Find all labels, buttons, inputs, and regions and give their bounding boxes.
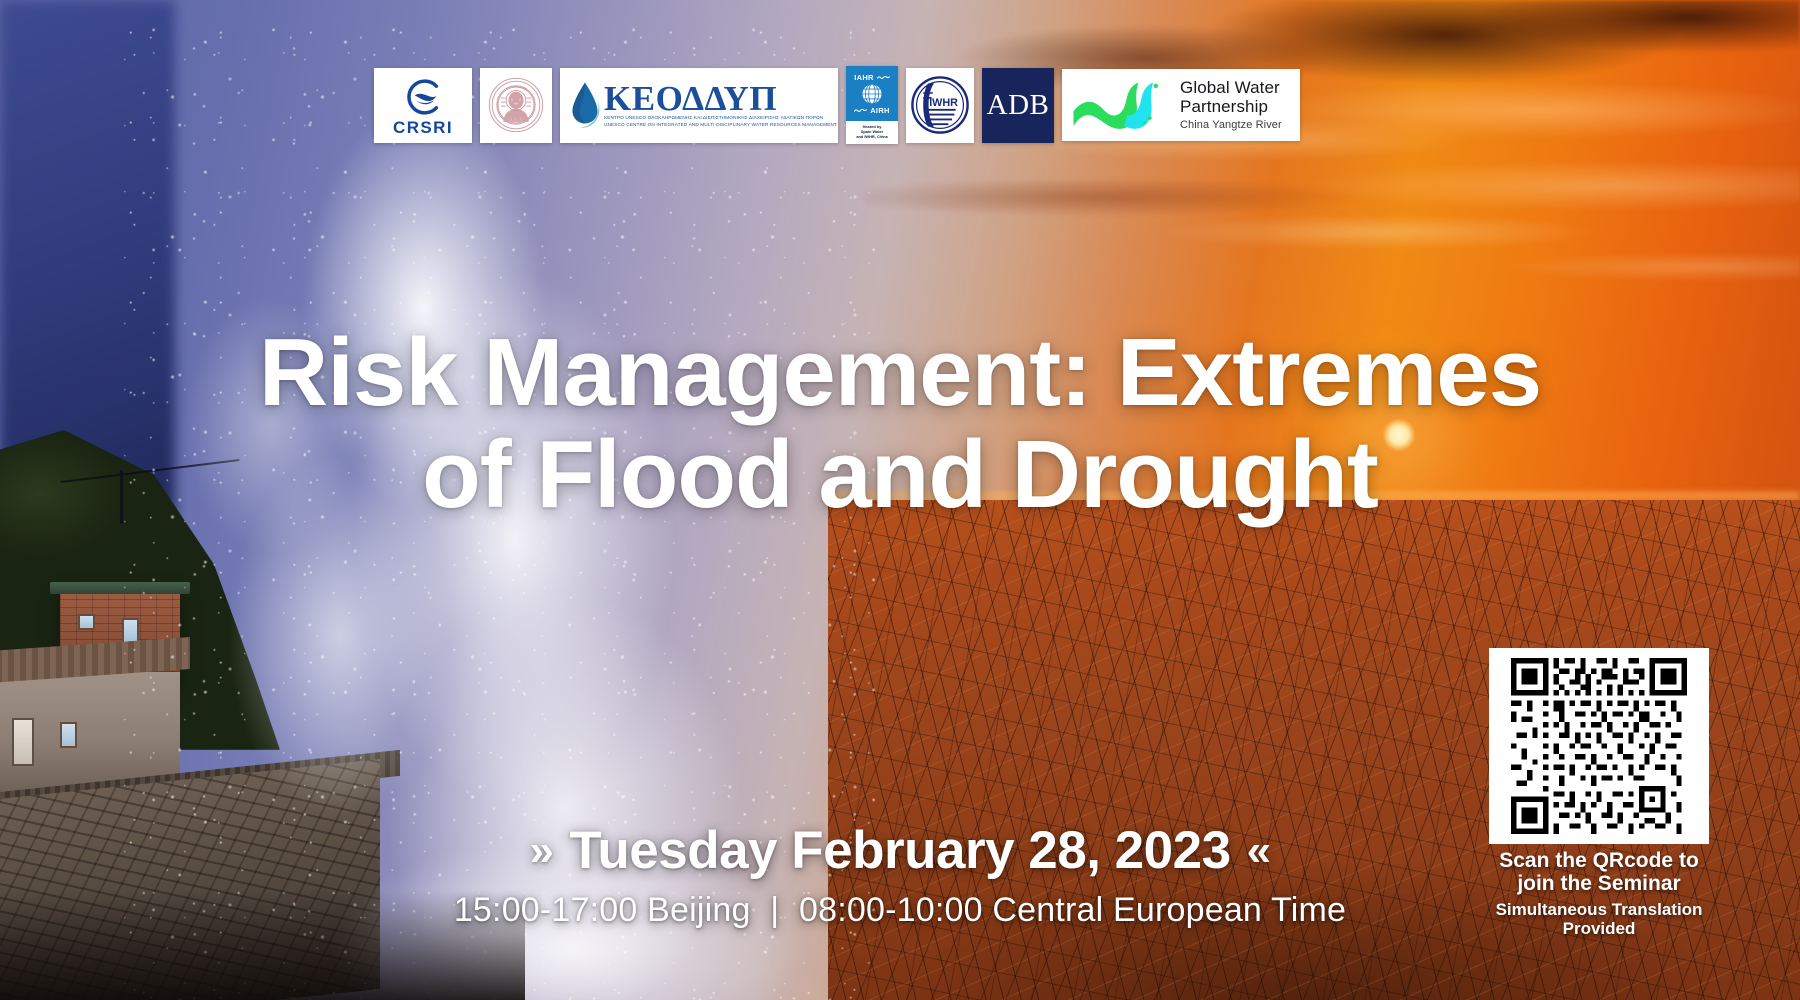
window xyxy=(78,614,95,630)
logo-keodyp-text: ΚΕΟΔΔΥΠ ΚΕΝΤΡΟ UNESCO ΟΛΟΚΛΗΡΩΜΕΝΗΣ ΚΑΙ … xyxy=(604,82,832,129)
qr-note-line2: Provided xyxy=(1563,919,1636,938)
logo-keodyp-wordmark: ΚΕΟΔΔΥΠ xyxy=(604,82,777,115)
logo-gwp-line3: China Yangtze River xyxy=(1180,119,1282,131)
poster-title: Risk Management: Extremes of Flood and D… xyxy=(0,322,1800,526)
water-drop-icon xyxy=(568,81,602,131)
qr-note: Simultaneous Translation Provided xyxy=(1489,900,1709,938)
chevron-right-icon: « xyxy=(1247,826,1271,876)
window xyxy=(60,722,77,748)
logo-adb[interactable]: ADB xyxy=(982,68,1054,143)
logo-keodyp-subtitle-el: ΚΕΝΤΡΟ UNESCO ΟΛΟΚΛΗΡΩΜΕΝΗΣ ΚΑΙ ΔΙΕΠΙΣΤΗ… xyxy=(604,115,823,122)
seminar-poster: CRSRI xyxy=(0,0,1800,1000)
crsri-wave-circle-icon xyxy=(403,77,443,117)
wave-icon xyxy=(854,107,867,114)
event-time-cet: 08:00-10:00 Central European Time xyxy=(799,891,1346,929)
title-line-1: Risk Management: Extremes xyxy=(40,322,1760,424)
logo-crsri-wordmark: CRSRI xyxy=(393,119,453,136)
logo-adb-wordmark: ADB xyxy=(987,89,1050,122)
logo-keodyp[interactable]: ΚΕΟΔΔΥΠ ΚΕΝΤΡΟ UNESCO ΟΛΟΚΛΗΡΩΜΕΝΗΣ ΚΑΙ … xyxy=(560,68,838,143)
logo-iahr[interactable]: IAHR xyxy=(846,66,898,144)
qr-caption-line1: Scan the QRcode to xyxy=(1499,849,1699,872)
qr-code-card[interactable] xyxy=(1489,648,1709,844)
qr-registration-block[interactable]: Scan the QRcode to join the Seminar Simu… xyxy=(1489,648,1709,938)
logo-iahr-blue-panel: IAHR xyxy=(846,66,898,121)
logo-iahr-top-row: IAHR xyxy=(854,73,890,82)
qr-code-icon[interactable] xyxy=(1511,658,1687,834)
chevron-left-icon: » xyxy=(529,826,553,876)
iwhr-dam-circle-icon: IWHR xyxy=(910,75,970,135)
logo-iahr-bottom-text: AIRH xyxy=(870,106,890,115)
title-line-2: of Flood and Drought xyxy=(40,424,1760,526)
qr-caption: Scan the QRcode to join the Seminar xyxy=(1489,850,1709,895)
qr-note-line1: Simultaneous Translation xyxy=(1496,900,1703,919)
logo-gwp[interactable]: Global Water Partnership China Yangtze R… xyxy=(1062,69,1300,141)
logo-gwp-line2: Partnership xyxy=(1180,98,1282,117)
event-time-beijing: 15:00-17:00 Beijing xyxy=(454,891,751,929)
sponsor-logo-bar: CRSRI xyxy=(374,66,1300,144)
event-date-text: Tuesday February 28, 2023 xyxy=(569,820,1230,881)
logo-iahr-hosted-line3: and IWHR, China xyxy=(856,135,887,140)
logo-university-seal[interactable] xyxy=(480,68,552,143)
logo-iwhr[interactable]: IWHR xyxy=(906,68,974,143)
logo-iahr-top-text: IAHR xyxy=(854,73,874,82)
logo-iahr-bottom-row: AIRH xyxy=(854,106,890,115)
logo-crsri[interactable]: CRSRI xyxy=(374,68,472,143)
logo-gwp-line1: Global Water xyxy=(1180,79,1282,98)
logo-keodyp-subtitle-en: UNESCO CENTRE ON INTEGRATED AND MULTI-DI… xyxy=(604,122,837,129)
wave-icon xyxy=(877,74,890,81)
event-time-separator: | xyxy=(760,891,789,929)
university-seal-icon xyxy=(487,76,545,134)
qr-caption-line2: join the Seminar xyxy=(1517,872,1680,895)
logo-gwp-text: Global Water Partnership China Yangtze R… xyxy=(1180,79,1282,131)
globe-grid-icon xyxy=(861,83,883,105)
gwp-brushstroke-wave-icon xyxy=(1070,78,1174,132)
logo-iahr-hosted-panel: Hosted by Spain Water and IWHR, China xyxy=(846,121,898,144)
logo-iwhr-wordmark: IWHR xyxy=(929,97,958,109)
door xyxy=(12,718,34,766)
